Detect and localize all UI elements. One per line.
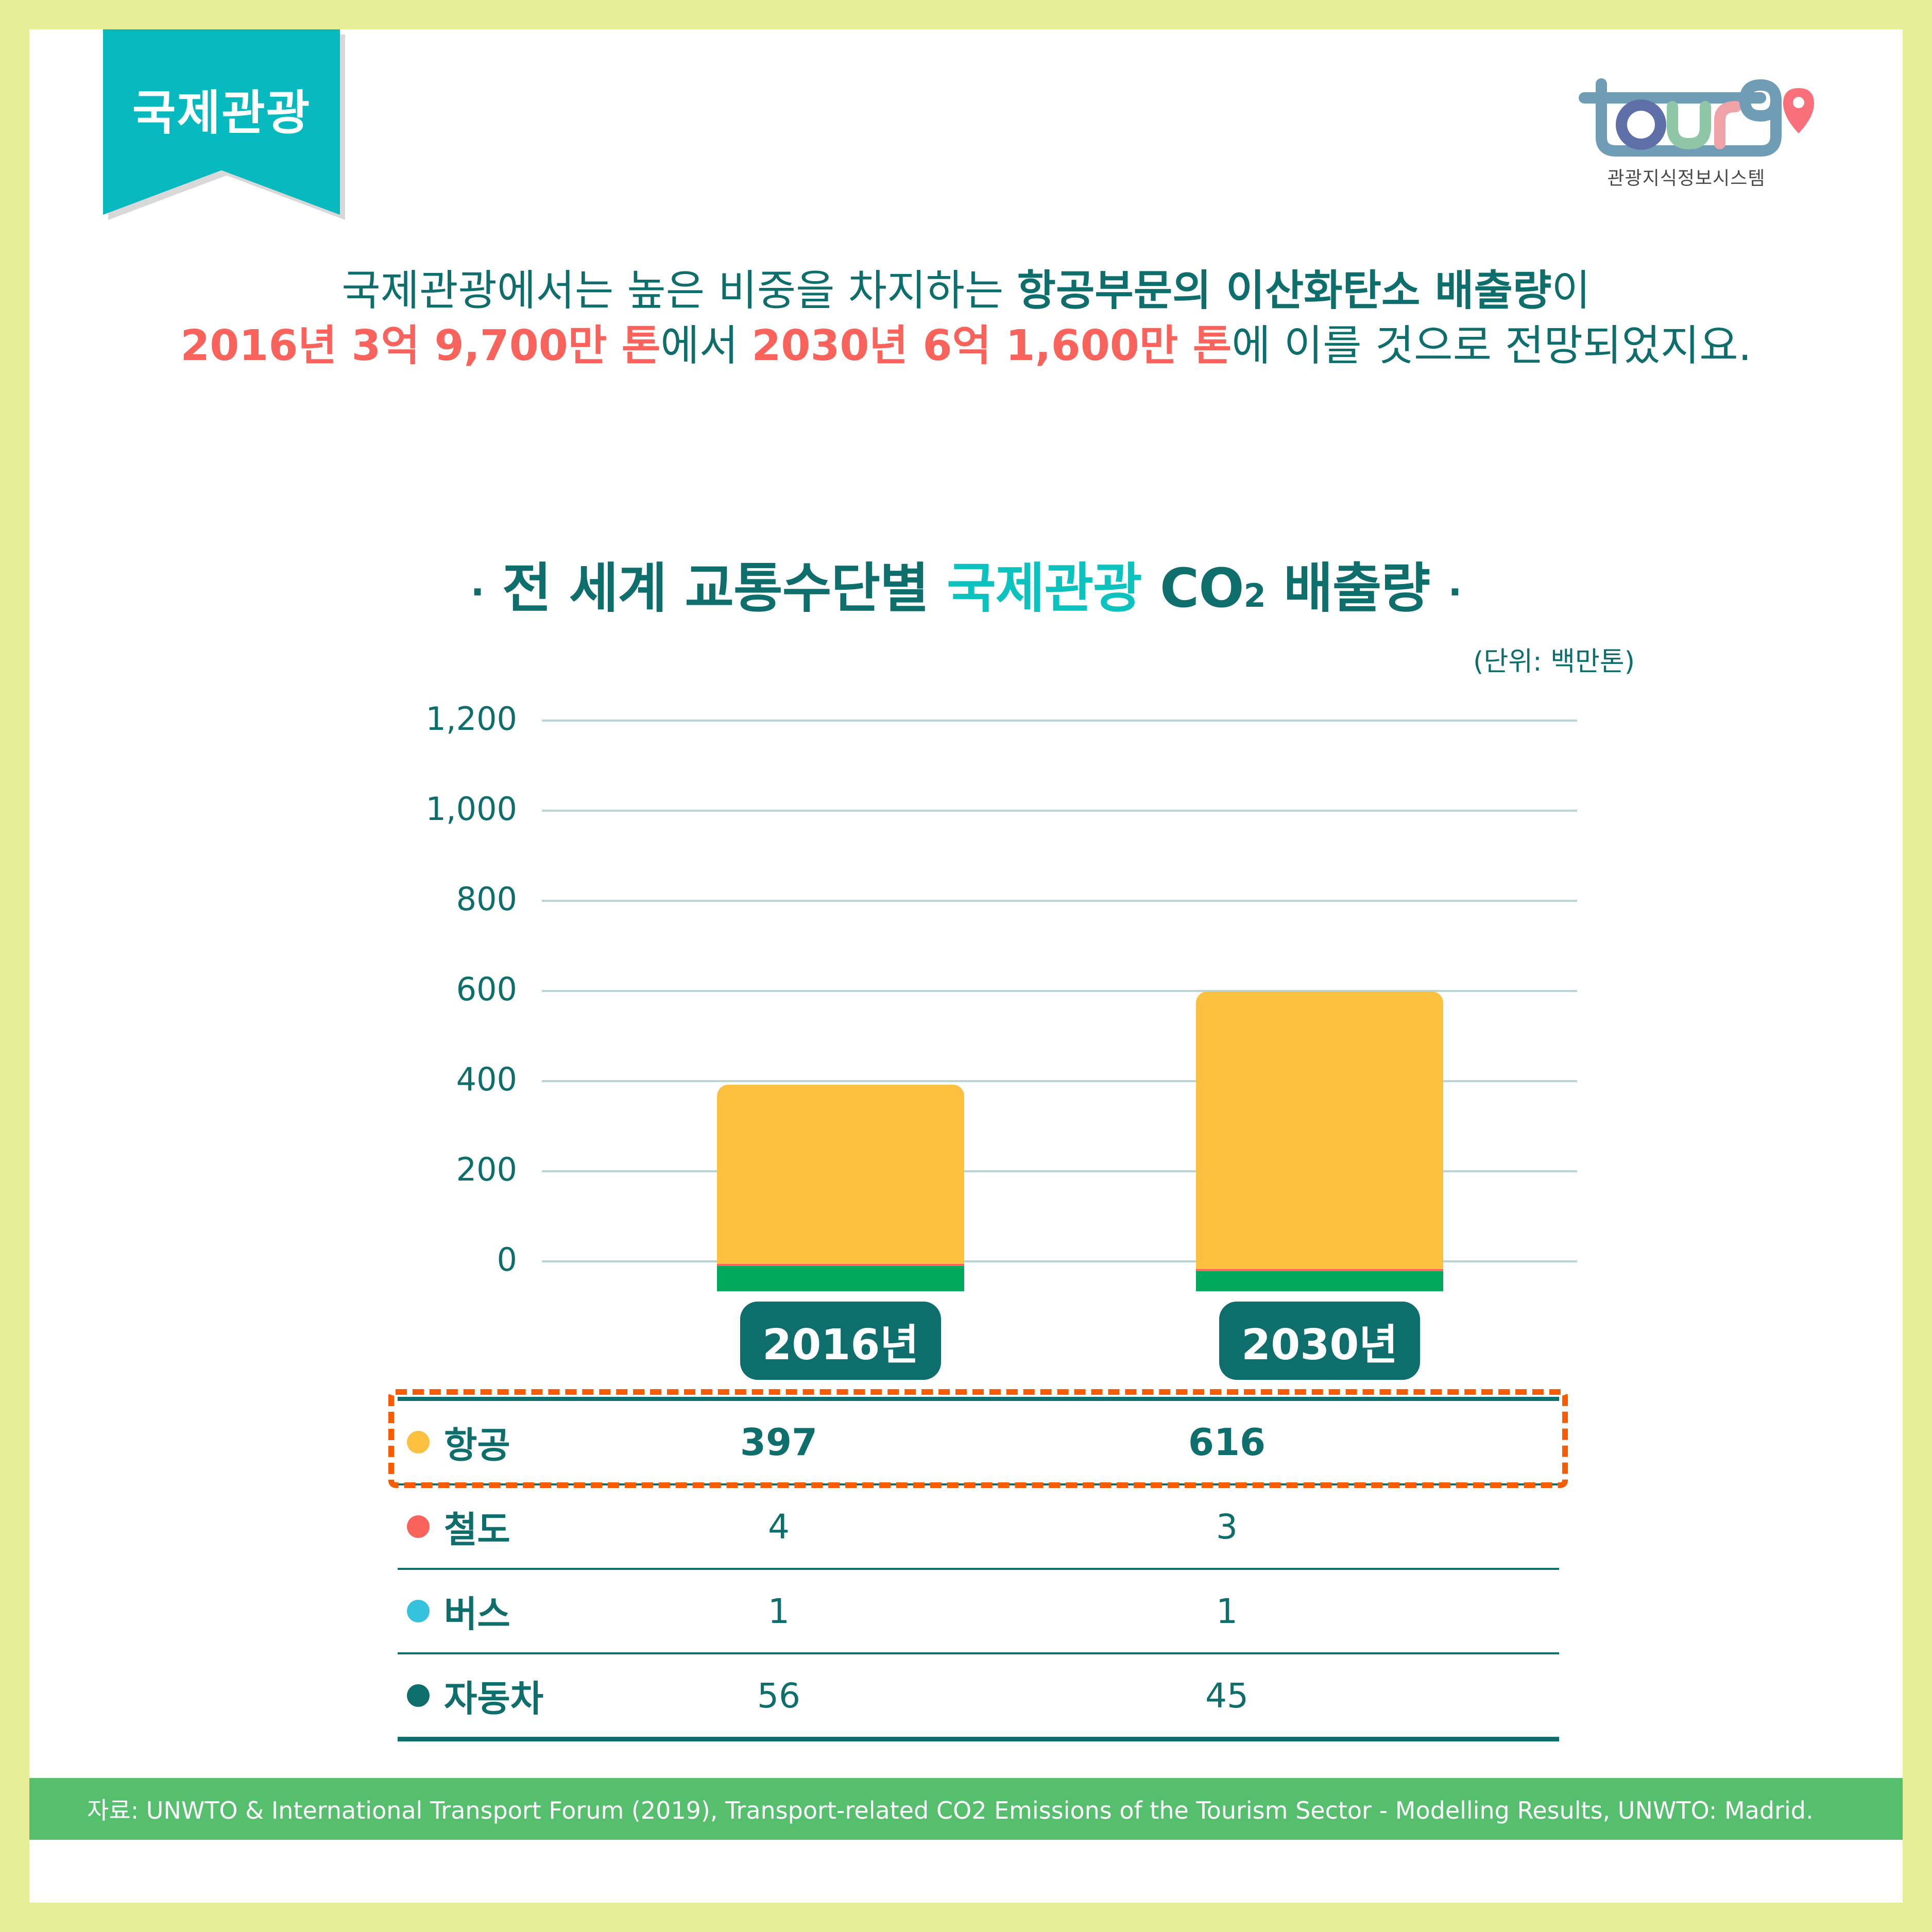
bar-2016년 <box>717 745 964 1291</box>
headline-l1-c: 이 <box>1551 266 1590 315</box>
title-part-3: 배출량 <box>1266 557 1430 620</box>
legend-dot-버스-icon <box>407 1600 430 1622</box>
legend-label-자동차: 자동차 <box>444 1670 583 1722</box>
legend-table: 항공397616철도43버스11자동차5645 <box>398 1397 1559 1741</box>
bar-segment-자동차-2030년 <box>1196 1271 1443 1291</box>
legend-label-철도: 철도 <box>444 1501 583 1553</box>
bar-segment-철도-2016년 <box>717 1264 964 1266</box>
headline-line-1: 국제관광에서는 높은 비중을 차지하는 항공부문의 이산화탄소 배출량이 <box>29 264 1903 319</box>
legend-label-버스: 버스 <box>444 1585 583 1637</box>
x-axis-label-2016: 2016년 <box>740 1302 941 1380</box>
source-footer: 자료: UNWTO & International Transport Foru… <box>29 1778 1903 1840</box>
bar-segment-항공-2016년 <box>717 1085 964 1263</box>
logo-caption: 관광지식정보시스템 <box>1552 163 1820 190</box>
legend-dot-자동차-icon <box>407 1684 430 1707</box>
y-tick-400: 400 <box>363 1061 517 1098</box>
legend-value-버스-2016: 1 <box>583 1592 974 1631</box>
headline-l1-a: 국제관광에서는 높은 비중을 차지하는 <box>341 266 1017 315</box>
headline-l2-c: 2030년 6억 1,600만 톤 <box>751 321 1232 370</box>
headline-l2-b: 에서 <box>660 321 751 370</box>
bar-segment-버스-2030년 <box>1196 1271 1443 1271</box>
legend-value-항공-2030: 616 <box>1031 1421 1423 1464</box>
legend-value-자동차-2030: 45 <box>1031 1676 1423 1716</box>
title-dot-right: · <box>1448 571 1461 614</box>
y-tick-800: 800 <box>363 880 517 918</box>
legend-row-철도: 철도43 <box>398 1485 1559 1570</box>
gridline-1200 <box>542 720 1577 722</box>
tour-logo: 관광지식정보시스템 <box>1552 70 1820 198</box>
title-dot-left: · <box>470 571 484 614</box>
infographic-card: 국제관광 관광지식정보시스템 국제관광에서는 높은 비중을 차지하는 항공부문의… <box>29 29 1903 1903</box>
headline-l2-d: 에 이를 것으로 전망되었지요. <box>1232 321 1752 370</box>
y-tick-1200: 1,200 <box>363 700 517 738</box>
y-tick-600: 600 <box>363 970 517 1008</box>
legend-value-철도-2030: 3 <box>1031 1507 1423 1547</box>
legend-value-철도-2016: 4 <box>583 1507 974 1547</box>
bar-segment-항공-2030년 <box>1196 991 1443 1269</box>
chart-unit-label: (단위: 백만톤) <box>1473 640 1635 678</box>
legend-dot-철도-icon <box>407 1515 430 1538</box>
title-accent: 국제관광 <box>947 557 1142 620</box>
source-text: 자료: UNWTO & International Transport Foru… <box>87 1792 1814 1826</box>
section-ribbon: 국제관광 <box>103 29 345 225</box>
chart-title: · 전 세계 교통수단별 국제관광 CO2 배출량 · <box>29 544 1903 622</box>
legend-row-자동차: 자동차5645 <box>398 1654 1559 1741</box>
bar-segment-철도-2030년 <box>1196 1269 1443 1271</box>
x-axis-label-2030: 2030년 <box>1219 1302 1420 1380</box>
headline-line-2: 2016년 3억 9,700만 톤에서 2030년 6억 1,600만 톤에 이… <box>29 319 1903 374</box>
headline-l2-a: 2016년 3억 9,700만 톤 <box>180 321 660 370</box>
headline-l1-b: 항공부문의 이산화탄소 배출량 <box>1017 266 1552 315</box>
tour-logo-mark <box>1552 70 1820 167</box>
legend-label-항공: 항공 <box>444 1416 583 1468</box>
legend-dot-항공-icon <box>407 1431 430 1454</box>
y-tick-1000: 1,000 <box>363 790 517 828</box>
y-tick-200: 200 <box>363 1151 517 1188</box>
headline: 국제관광에서는 높은 비중을 차지하는 항공부문의 이산화탄소 배출량이 201… <box>29 264 1903 373</box>
title-part-2: CO <box>1142 557 1244 620</box>
ribbon-label: 국제관광 <box>103 75 340 143</box>
legend-row-항공: 항공397616 <box>398 1397 1559 1485</box>
chart-plot-area: 02004006008001,0001,200 <box>29 714 1903 1291</box>
title-subscript: 2 <box>1244 577 1266 614</box>
legend-value-버스-2030: 1 <box>1031 1592 1423 1631</box>
bar-segment-버스-2016년 <box>717 1266 964 1266</box>
y-tick-0: 0 <box>363 1241 517 1278</box>
legend-value-자동차-2016: 56 <box>583 1676 974 1716</box>
bar-segment-자동차-2016년 <box>717 1266 964 1291</box>
legend-value-항공-2016: 397 <box>583 1421 974 1464</box>
title-part-1: 전 세계 교통수단별 <box>502 557 947 620</box>
bar-2030년 <box>1196 745 1443 1291</box>
legend-row-버스: 버스11 <box>398 1570 1559 1654</box>
